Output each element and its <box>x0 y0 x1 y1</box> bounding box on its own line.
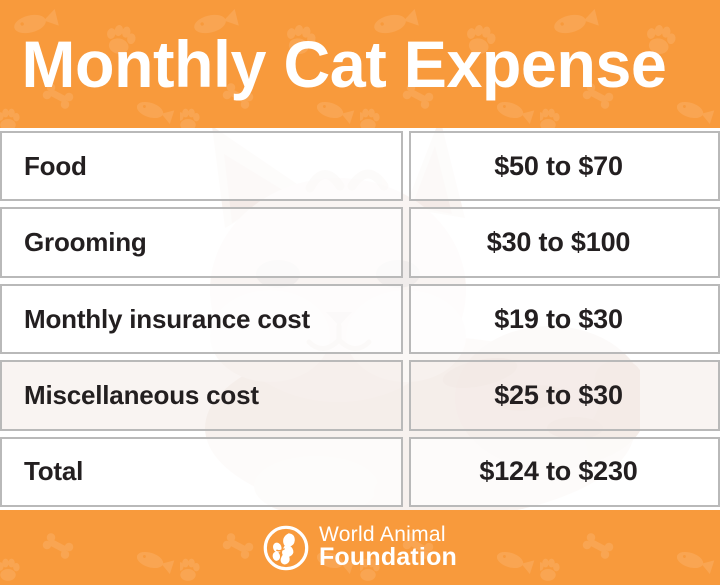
expense-label: Monthly insurance cost <box>24 304 310 335</box>
table-row: Total $124 to $230 <box>0 434 720 510</box>
expense-value: $30 to $100 <box>487 227 630 258</box>
expense-label: Grooming <box>24 227 147 258</box>
expense-value: $25 to $30 <box>494 380 623 411</box>
expense-value: $19 to $30 <box>494 304 623 335</box>
expense-value-cell: $124 to $230 <box>409 437 720 507</box>
expense-value: $50 to $70 <box>494 151 623 182</box>
brand-text: World Animal Foundation <box>319 524 457 571</box>
page-title: Monthly Cat Expense <box>0 31 666 97</box>
expense-rows: Food $50 to $70 Grooming $30 to $100 Mon… <box>0 128 720 510</box>
expense-label-cell: Monthly insurance cost <box>0 284 403 354</box>
expense-label-cell: Grooming <box>0 207 403 277</box>
expense-label-cell: Total <box>0 437 403 507</box>
expense-label-cell: Miscellaneous cost <box>0 360 403 430</box>
expense-value-cell: $19 to $30 <box>409 284 720 354</box>
table-row: Food $50 to $70 <box>0 128 720 204</box>
expense-label: Total <box>24 456 83 487</box>
table-row: Monthly insurance cost $19 to $30 <box>0 281 720 357</box>
brand-line-2: Foundation <box>319 545 457 571</box>
header-banner: Monthly Cat Expense <box>0 0 720 128</box>
brand-line-1: World Animal <box>319 524 457 545</box>
table-row: Grooming $30 to $100 <box>0 204 720 280</box>
expense-value-cell: $30 to $100 <box>409 207 720 277</box>
expense-value-cell: $50 to $70 <box>409 131 720 201</box>
monthly-cat-expense-infographic: Monthly Cat Expense <box>0 0 720 585</box>
expense-table: Food $50 to $70 Grooming $30 to $100 Mon… <box>0 128 720 510</box>
expense-label: Miscellaneous cost <box>24 380 259 411</box>
expense-label-cell: Food <box>0 131 403 201</box>
footer-bar: World Animal Foundation <box>0 510 720 585</box>
expense-value-cell: $25 to $30 <box>409 360 720 430</box>
brand-logo: World Animal Foundation <box>263 524 457 571</box>
table-row: Miscellaneous cost $25 to $30 <box>0 357 720 433</box>
expense-label: Food <box>24 151 87 182</box>
expense-value: $124 to $230 <box>479 456 637 487</box>
animal-circle-logo-icon <box>263 525 309 571</box>
